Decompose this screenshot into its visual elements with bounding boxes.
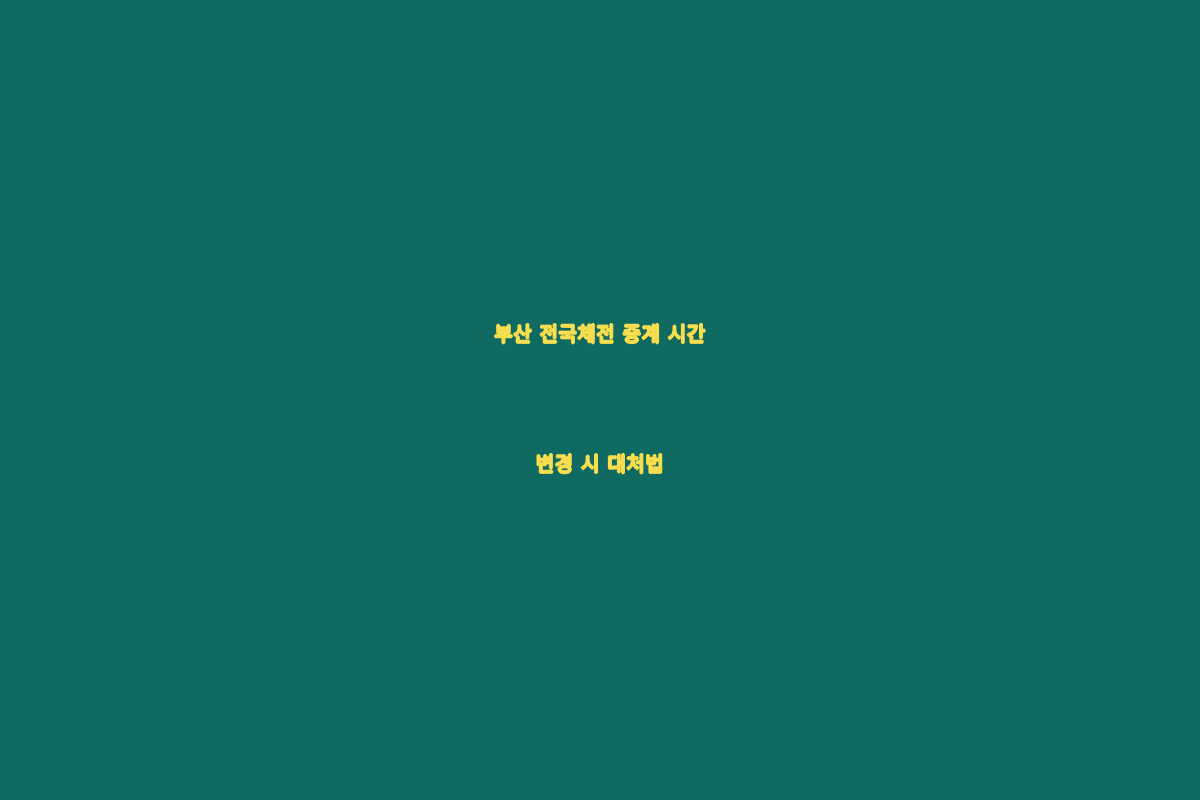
title-line-1: 부산 전국체전 중계 시간 [24,269,1176,399]
page-title: 부산 전국체전 중계 시간 변경 시 대처법 [0,269,1200,529]
title-line-2: 변경 시 대처법 [24,399,1176,529]
thumbnail-card: 부산 전국체전 중계 시간 변경 시 대처법 [0,0,1200,800]
